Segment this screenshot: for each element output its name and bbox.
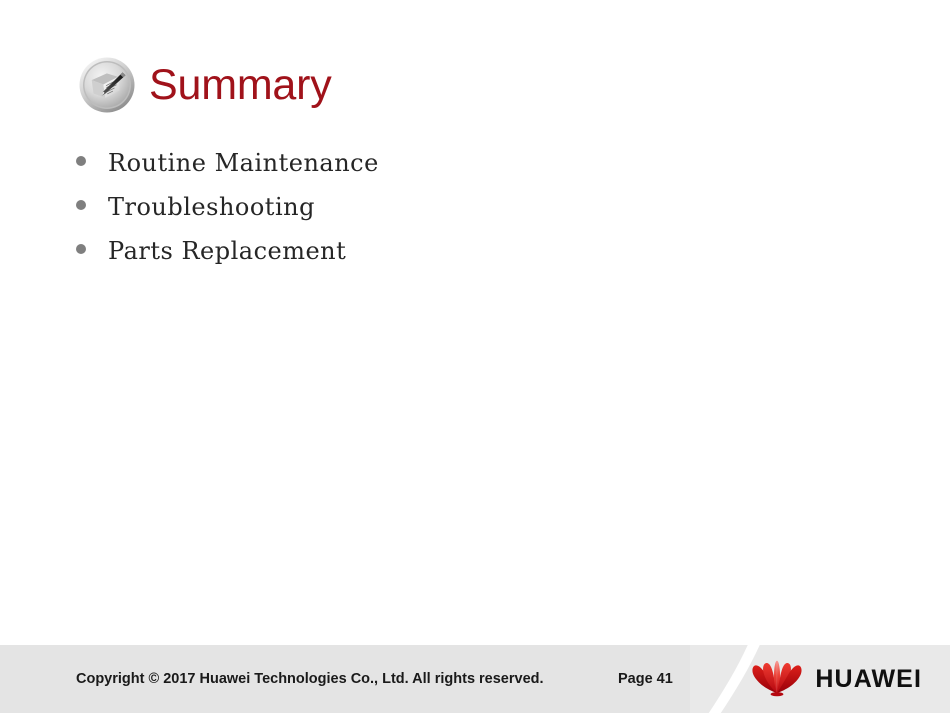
list-item: Troubleshooting bbox=[76, 190, 379, 234]
summary-bullet-list: Routine Maintenance Troubleshooting Part… bbox=[76, 146, 379, 278]
bullet-dot-icon bbox=[76, 200, 86, 210]
footer-copyright-text: Copyright © 2017 Huawei Technologies Co.… bbox=[76, 671, 544, 687]
list-item-label: Troubleshooting bbox=[108, 190, 315, 224]
huawei-flower-logo bbox=[750, 659, 804, 699]
huawei-wordmark: HUAWEI bbox=[815, 667, 922, 692]
page-title: Summary bbox=[149, 64, 332, 107]
list-item-label: Parts Replacement bbox=[108, 234, 346, 268]
list-item: Routine Maintenance bbox=[76, 146, 379, 190]
list-item: Parts Replacement bbox=[76, 234, 379, 278]
bullet-dot-icon bbox=[76, 244, 86, 254]
slide-footer: Copyright © 2017 Huawei Technologies Co.… bbox=[0, 645, 950, 713]
bullet-dot-icon bbox=[76, 156, 86, 166]
footer-page-number: Page 41 bbox=[618, 671, 673, 687]
list-item-label: Routine Maintenance bbox=[108, 146, 379, 180]
notepad-pen-icon bbox=[78, 56, 136, 114]
huawei-brand-logo: HUAWEI bbox=[750, 659, 922, 699]
slide-canvas: Summary Routine Maintenance Troubleshoot… bbox=[0, 0, 950, 713]
slide-title-row: Summary bbox=[78, 56, 332, 114]
